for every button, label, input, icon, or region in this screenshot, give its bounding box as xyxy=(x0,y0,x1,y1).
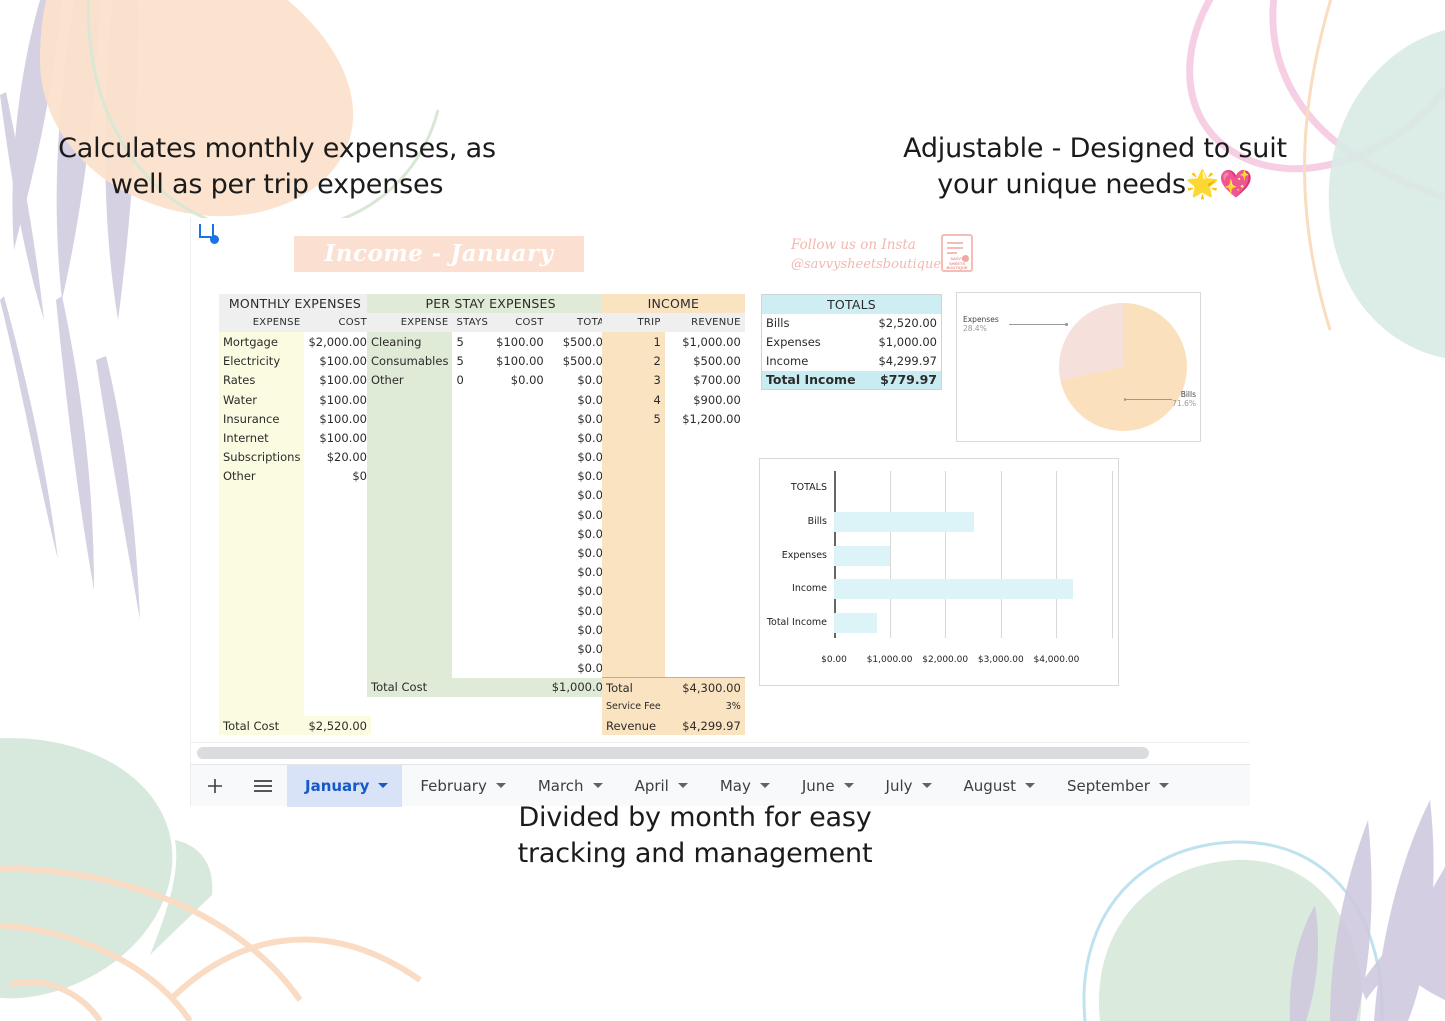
chevron-down-icon[interactable] xyxy=(593,783,603,788)
table-row: $0.00 xyxy=(367,582,614,601)
table-row xyxy=(602,601,745,620)
logo-caption: SAVVY SHEETS BOUTIQUE xyxy=(943,257,971,271)
bar-income[interactable] xyxy=(834,579,1073,599)
table-row xyxy=(602,467,745,486)
chevron-down-icon[interactable] xyxy=(378,783,388,788)
cell-cost[interactable]: $0.00 xyxy=(492,371,548,390)
sheet-tab-label: June xyxy=(802,777,835,795)
cell-cost[interactable]: $100.00 xyxy=(304,409,371,428)
per-stay-total-label: Total Cost xyxy=(367,678,548,697)
table-row: Internet$100.00 xyxy=(219,428,371,447)
cell-expense[interactable]: Subscriptions xyxy=(219,448,304,467)
cell-expense[interactable]: Insurance xyxy=(219,409,304,428)
table-row: Mortgage$2,000.00 xyxy=(219,332,371,351)
cell-expense[interactable]: Consumables xyxy=(367,352,452,371)
table-row xyxy=(219,620,371,639)
table-row: Electricity$100.00 xyxy=(219,352,371,371)
table-row xyxy=(602,448,745,467)
table-row: $0.00 xyxy=(367,543,614,562)
table-row: Rates$100.00 xyxy=(219,371,371,390)
cell-expense[interactable]: Other xyxy=(219,467,304,486)
cell-label[interactable]: Income xyxy=(762,352,870,371)
bar-chart[interactable]: TOTALSBillsExpensesIncomeTotal Income$0.… xyxy=(759,458,1119,686)
table-row: $0.00 xyxy=(367,563,614,582)
pie-disc xyxy=(1059,303,1187,431)
cell-expense[interactable]: Water xyxy=(219,390,304,409)
cell-expense[interactable]: Internet xyxy=(219,428,304,447)
x-axis-tick: $4,000.00 xyxy=(1033,655,1079,665)
table-row: Other$0 xyxy=(219,467,371,486)
blob-mint-bottom-right xyxy=(1099,860,1361,1021)
table-row xyxy=(219,582,371,601)
table-row-total: Total $4,300.00 xyxy=(602,678,745,697)
cell-stays[interactable]: 5 xyxy=(452,352,492,371)
table-row: Bills$2,520.00 xyxy=(762,314,942,333)
bar-expenses[interactable] xyxy=(834,546,890,566)
table-row xyxy=(602,428,745,447)
sheet-title: Income - January xyxy=(294,236,584,272)
totals-title: TOTALS xyxy=(762,295,942,314)
scrollbar-thumb[interactable] xyxy=(197,747,1149,759)
sheet-tab-label: April xyxy=(635,777,669,795)
table-row: 2$500.00 xyxy=(602,352,745,371)
pie-label-bills-pct: 71.6% xyxy=(1172,399,1196,408)
table-row xyxy=(602,620,745,639)
col-header-expense: EXPENSE xyxy=(367,313,452,332)
sheet-tab-label: May xyxy=(720,777,751,795)
cell-trip[interactable]: 3 xyxy=(602,371,665,390)
table-row: $0.00 xyxy=(367,390,614,409)
pie-leader-dot-bills xyxy=(1124,398,1127,401)
table-row xyxy=(602,582,745,601)
table-row: 1$1,000.00 xyxy=(602,332,745,351)
monthly-total-value: $2,520.00 xyxy=(304,716,371,735)
bar-category-label: Total Income xyxy=(760,617,832,628)
gridline xyxy=(1001,471,1002,638)
table-per-stay-expenses[interactable]: PER STAY EXPENSES EXPENSE STAYS COST TOT… xyxy=(367,294,614,697)
gridline xyxy=(890,471,891,638)
income-total-label: Total xyxy=(602,678,665,697)
swirl-peach-bottom-left xyxy=(0,869,420,1021)
table-row xyxy=(219,486,371,505)
cell-trip[interactable]: 5 xyxy=(602,409,665,428)
chevron-down-icon[interactable] xyxy=(760,783,770,788)
service-fee-label: Service Fee xyxy=(602,697,665,716)
chevron-down-icon[interactable] xyxy=(678,783,688,788)
table-row xyxy=(602,659,745,678)
table-row: $0.00 xyxy=(367,505,614,524)
table-row xyxy=(219,563,371,582)
table-row: Income$4,299.97 xyxy=(762,352,942,371)
table-row xyxy=(602,563,745,582)
table-row xyxy=(602,543,745,562)
table-row: $0.00 xyxy=(367,428,614,447)
arc-blue-bottom-right xyxy=(1084,842,1382,1021)
sheet-tab-label: January xyxy=(305,777,369,795)
leaf-mint-bottom-left xyxy=(150,840,212,955)
table-row xyxy=(602,486,745,505)
table-row xyxy=(219,659,371,678)
table-row xyxy=(602,524,745,543)
pie-label-bills: Bills 71.6% xyxy=(1172,390,1196,409)
cell-expense[interactable]: Other xyxy=(367,371,452,390)
curve-orange-top-right xyxy=(1305,0,1340,330)
bar-category-label: Expenses xyxy=(760,550,832,561)
table-row-total-income: Total Income $779.97 xyxy=(762,371,942,390)
table-row-service-fee: Service Fee 3% xyxy=(602,697,745,716)
bar-category-label: Income xyxy=(760,583,832,594)
table-row: $0.00 xyxy=(367,409,614,428)
leaf-cluster-bottom-right xyxy=(1290,800,1445,1021)
cell-stays[interactable]: 5 xyxy=(452,332,492,351)
cell-value[interactable]: $1,000.00 xyxy=(870,333,942,352)
caption-right: Adjustable - Designed to suit your uniqu… xyxy=(895,131,1295,203)
bar-category-label: TOTALS xyxy=(760,482,832,493)
bar-bills[interactable] xyxy=(834,512,974,532)
table-row-revenue: Revenue $4,299.97 xyxy=(602,716,745,735)
cell-value[interactable]: $2,520.00 xyxy=(870,314,942,333)
cell-revenue[interactable]: $500.00 xyxy=(665,352,745,371)
sheet-tab-august[interactable]: August xyxy=(946,765,1050,807)
chevron-down-icon[interactable] xyxy=(922,783,932,788)
horizontal-scrollbar[interactable] xyxy=(191,742,1250,762)
cell-expense[interactable]: Rates xyxy=(219,371,304,390)
caption-left: Calculates monthly expenses, as well as … xyxy=(42,131,512,203)
col-header-trip: TRIP xyxy=(602,313,665,332)
bar-category-label: Bills xyxy=(760,516,832,527)
cell-revenue[interactable]: $900.00 xyxy=(665,390,745,409)
col-header-cost: COST xyxy=(304,313,371,332)
cell-expense[interactable]: Electricity xyxy=(219,352,304,371)
pie-label-expenses: Expenses 28.4% xyxy=(963,315,999,334)
sheet-tab-label: July xyxy=(886,777,913,795)
sheet-tab-label: February xyxy=(420,777,486,795)
cell-cost[interactable]: $100.00 xyxy=(304,390,371,409)
cell-revenue[interactable]: $1,000.00 xyxy=(665,332,745,351)
total-income-label: Total Income xyxy=(762,371,870,390)
sheet-canvas[interactable]: Income - January Follow us on Insta @sav… xyxy=(191,218,1250,740)
cell-label[interactable]: Bills xyxy=(762,314,870,333)
pie-label-expenses-text: Expenses xyxy=(963,315,999,324)
cell-trip[interactable]: 4 xyxy=(602,390,665,409)
blob-mint-bottom-left xyxy=(0,738,172,998)
table-row: Cleaning5$100.00$500.00 xyxy=(367,332,614,351)
table-row xyxy=(219,678,371,697)
cell-cost[interactable]: $100.00 xyxy=(492,352,548,371)
x-axis-tick: $3,000.00 xyxy=(978,655,1024,665)
all-sheets-menu-button[interactable] xyxy=(239,765,287,807)
sheet-tab-label: March xyxy=(538,777,584,795)
table-row xyxy=(219,639,371,658)
col-header-expense: EXPENSE xyxy=(219,313,304,332)
table-row xyxy=(219,697,371,716)
add-sheet-button[interactable] xyxy=(191,765,239,807)
ribbon-pink-top-right-2 xyxy=(1273,0,1445,198)
table-row xyxy=(219,601,371,620)
cell-trip[interactable]: 1 xyxy=(602,332,665,351)
table-row-total: Total Cost $1,000.00 xyxy=(367,678,614,697)
table-row: $0.00 xyxy=(367,639,614,658)
table-row: $0.00 xyxy=(367,659,614,678)
cell-revenue[interactable]: $1,200.00 xyxy=(665,409,745,428)
table-row xyxy=(602,505,745,524)
chevron-down-icon[interactable] xyxy=(496,783,506,788)
leaf-cluster-top-left xyxy=(0,0,140,620)
monthly-expenses-title: MONTHLY EXPENSES xyxy=(219,294,371,313)
income-total-value: $4,300.00 xyxy=(665,678,745,697)
cell-cursor-icon xyxy=(199,224,223,244)
table-row: 5$1,200.00 xyxy=(602,409,745,428)
cell-cost[interactable]: $100.00 xyxy=(304,428,371,447)
table-row xyxy=(219,505,371,524)
cell-stays[interactable]: 0 xyxy=(452,371,492,390)
cell-expense[interactable]: Cleaning xyxy=(367,332,452,351)
cell-trip[interactable]: 2 xyxy=(602,352,665,371)
table-income[interactable]: INCOME TRIP REVENUE 1$1,000.00 2$500.00 … xyxy=(602,294,745,735)
x-axis-tick: $0.00 xyxy=(821,655,847,665)
table-row: 4$900.00 xyxy=(602,390,745,409)
table-row: $0.00 xyxy=(367,620,614,639)
revenue-label: Revenue xyxy=(602,716,665,735)
table-row: Other0$0.00$0.00 xyxy=(367,371,614,390)
table-row: Subscriptions$20.00 xyxy=(219,448,371,467)
col-header-revenue: REVENUE xyxy=(665,313,745,332)
pie-label-bills-text: Bills xyxy=(1172,390,1196,399)
service-fee-value[interactable]: 3% xyxy=(665,697,745,716)
cell-cost[interactable]: $100.00 xyxy=(304,352,371,371)
spreadsheet-window[interactable]: Income - January Follow us on Insta @sav… xyxy=(190,218,1250,806)
pie-leader-dot-expenses xyxy=(1065,323,1068,326)
sheet-title-banner: Income - January xyxy=(294,236,584,272)
total-income-value: $779.97 xyxy=(870,371,942,390)
table-row xyxy=(602,639,745,658)
table-row: Water$100.00 xyxy=(219,390,371,409)
cell-cost[interactable]: $2,000.00 xyxy=(304,332,371,351)
blob-mint-top-right xyxy=(1329,30,1445,358)
table-row xyxy=(219,524,371,543)
sheet-tab-label: September xyxy=(1067,777,1150,795)
table-row: $0.00 xyxy=(367,448,614,467)
caption-bottom: Divided by month for easy tracking and m… xyxy=(495,800,895,872)
cell-cost[interactable]: $20.00 xyxy=(304,448,371,467)
table-row: Insurance$100.00 xyxy=(219,409,371,428)
table-row: Consumables5$100.00$500.00 xyxy=(367,352,614,371)
cell-value[interactable]: $4,299.97 xyxy=(870,352,942,371)
sheet-tab-label: August xyxy=(964,777,1017,795)
table-row: $0.00 xyxy=(367,524,614,543)
monthly-total-label: Total Cost xyxy=(219,716,304,735)
gridline xyxy=(945,471,946,638)
chevron-down-icon[interactable] xyxy=(1025,783,1035,788)
pie-chart[interactable]: Expenses 28.4% Bills 71.6% xyxy=(956,292,1201,442)
table-row: $0.00 xyxy=(367,601,614,620)
pie-leader-expenses xyxy=(1009,324,1067,325)
col-header-stays: STAYS xyxy=(452,313,492,332)
table-totals[interactable]: TOTALS Bills$2,520.00 Expenses$1,000.00 … xyxy=(761,294,942,390)
table-row: $0.00 xyxy=(367,467,614,486)
savvy-sheets-logo-icon: SAVVY SHEETS BOUTIQUE xyxy=(941,234,973,272)
cell-cost[interactable]: $100.00 xyxy=(304,371,371,390)
col-header-cost: COST xyxy=(492,313,548,332)
revenue-value: $4,299.97 xyxy=(665,716,745,735)
gridline xyxy=(1056,471,1057,638)
sheet-tab-september[interactable]: September xyxy=(1049,765,1183,807)
cell-cost[interactable]: $100.00 xyxy=(492,332,548,351)
chevron-down-icon[interactable] xyxy=(844,783,854,788)
gridline xyxy=(1112,471,1113,638)
table-row: Expenses$1,000.00 xyxy=(762,333,942,352)
cell-label[interactable]: Expenses xyxy=(762,333,870,352)
table-row-total: Total Cost $2,520.00 xyxy=(219,716,371,735)
x-axis-tick: $1,000.00 xyxy=(867,655,913,665)
x-axis-tick: $2,000.00 xyxy=(922,655,968,665)
pie-label-expenses-pct: 28.4% xyxy=(963,324,999,333)
sheet-tab-january[interactable]: January xyxy=(287,765,402,807)
cell-cost[interactable]: $0 xyxy=(304,467,371,486)
table-row xyxy=(219,543,371,562)
pie-leader-bills xyxy=(1126,399,1172,400)
bar-plot-area: TOTALSBillsExpensesIncomeTotal Income$0.… xyxy=(760,459,1118,685)
table-row: $0.00 xyxy=(367,486,614,505)
per-stay-title: PER STAY EXPENSES xyxy=(367,294,614,313)
income-title: INCOME xyxy=(602,294,745,313)
table-row: 3$700.00 xyxy=(602,371,745,390)
cell-expense[interactable]: Mortgage xyxy=(219,332,304,351)
bar-total-income[interactable] xyxy=(834,613,877,633)
chevron-down-icon[interactable] xyxy=(1159,783,1169,788)
table-monthly-expenses[interactable]: MONTHLY EXPENSES EXPENSE COST Mortgage$2… xyxy=(219,294,371,735)
cell-revenue[interactable]: $700.00 xyxy=(665,371,745,390)
